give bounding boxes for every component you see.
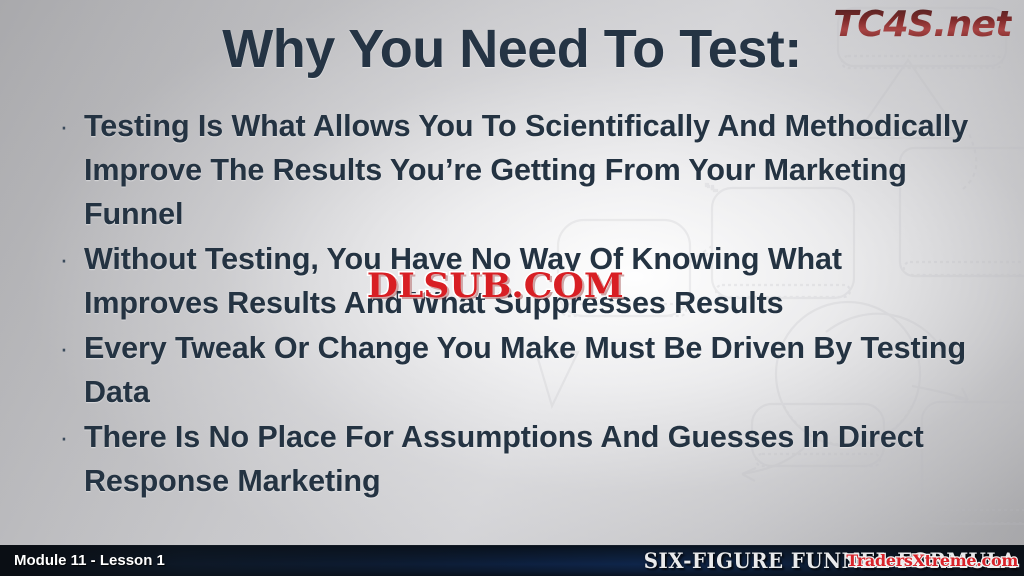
bullet-point-icon: · xyxy=(44,104,84,148)
footer-bar: Module 11 - Lesson 1 SIX-FIGURE FUNNEL F… xyxy=(0,545,1024,576)
watermark-top-right: TC4S.net xyxy=(833,4,1011,45)
bullet-text: Every Tweak Or Change You Make Must Be D… xyxy=(84,326,984,414)
watermark-footer: TradersXtreme.com xyxy=(846,551,1018,570)
presentation-slide: Why You Need To Test: · Testing Is What … xyxy=(0,0,1024,576)
list-item: · Every Tweak Or Change You Make Must Be… xyxy=(44,326,984,414)
bullet-text: There Is No Place For Assumptions And Gu… xyxy=(84,415,984,503)
list-item: · Testing Is What Allows You To Scientif… xyxy=(44,104,984,236)
bullet-point-icon: · xyxy=(44,415,84,459)
bullet-text: Testing Is What Allows You To Scientific… xyxy=(84,104,984,236)
bullet-point-icon: · xyxy=(44,326,84,370)
list-item: · There Is No Place For Assumptions And … xyxy=(44,415,984,503)
module-lesson-label: Module 11 - Lesson 1 xyxy=(14,545,165,576)
bullet-point-icon: · xyxy=(44,237,84,281)
watermark-center: DLSUB.COM xyxy=(367,266,624,306)
